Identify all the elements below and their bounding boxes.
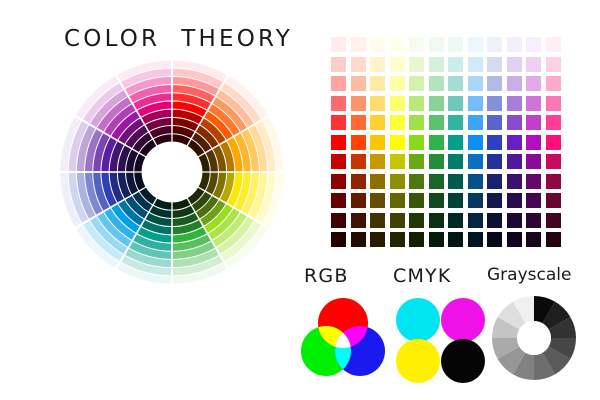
palette-swatch-teal-tint-r3 — [448, 76, 463, 91]
cmyk-circles-figure — [392, 293, 488, 385]
palette-swatch-gold-pure-r6 — [370, 135, 385, 150]
wheel-hub — [142, 142, 202, 202]
palette-swatch-violet-pure-r6 — [507, 135, 522, 150]
palette-swatch-azure-shade-r7 — [468, 154, 483, 169]
palette-swatch-teal-shade-r10 — [448, 213, 463, 228]
rgb-venn — [296, 293, 392, 385]
black-circle — [441, 339, 485, 383]
palette-swatch-blue-tint-r4 — [487, 96, 502, 111]
palette-swatch-violet-shade-r8 — [507, 174, 522, 189]
palette-swatch-red-tint-r2 — [331, 57, 346, 72]
palette-swatch-blue-tint-r3 — [487, 76, 502, 91]
palette-swatch-yellow-green-shade-r10 — [409, 213, 424, 228]
palette-swatch-magenta-shade-r9 — [526, 193, 541, 208]
palette-swatch-green-tint-r5 — [429, 115, 444, 130]
palette-swatch-red-shade-r11 — [331, 232, 346, 247]
palette-swatch-yellow-green-shade-r7 — [409, 154, 424, 169]
palette-swatch-green-tint-r2 — [429, 57, 444, 72]
palette-swatch-orange-tint-r3 — [351, 76, 366, 91]
palette-swatch-yellow-shade-r7 — [390, 154, 405, 169]
palette-swatch-blue-shade-r7 — [487, 154, 502, 169]
palette-swatch-yellow-green-shade-r9 — [409, 193, 424, 208]
palette-swatch-gold-tint-r5 — [370, 115, 385, 130]
palette-swatch-green-tint-r3 — [429, 76, 444, 91]
palette-swatch-magenta-shade-r10 — [526, 213, 541, 228]
palette-swatch-gold-tint-r4 — [370, 96, 385, 111]
palette-swatch-azure-tint-r5 — [468, 115, 483, 130]
palette-swatch-pink-tint-r2 — [546, 57, 561, 72]
palette-swatch-red-shade-r7 — [331, 154, 346, 169]
yellow-circle — [396, 339, 440, 383]
palette-swatch-red-tint-r1 — [331, 37, 346, 52]
palette-swatch-yellow-shade-r11 — [390, 232, 405, 247]
palette-swatch-magenta-tint-r2 — [526, 57, 541, 72]
palette-swatch-yellow-green-tint-r2 — [409, 57, 424, 72]
palette-swatch-gold-shade-r11 — [370, 232, 385, 247]
page-title: COLOR THEORY — [64, 26, 293, 52]
palette-swatch-green-shade-r11 — [429, 232, 444, 247]
palette-swatch-violet-shade-r9 — [507, 193, 522, 208]
palette-swatch-green-shade-r7 — [429, 154, 444, 169]
palette-swatch-blue-tint-r2 — [487, 57, 502, 72]
palette-swatch-orange-shade-r10 — [351, 213, 366, 228]
palette-swatch-gold-shade-r9 — [370, 193, 385, 208]
palette-swatch-magenta-shade-r11 — [526, 232, 541, 247]
palette-swatch-red-tint-r5 — [331, 115, 346, 130]
magenta-circle — [441, 298, 485, 342]
palette-swatch-red-pure-r6 — [331, 135, 346, 150]
palette-swatch-gold-tint-r1 — [370, 37, 385, 52]
palette-swatch-green-tint-r1 — [429, 37, 444, 52]
cmyk-circles — [392, 293, 488, 385]
grayscale-hub — [517, 321, 551, 355]
palette-swatch-pink-tint-r3 — [546, 76, 561, 91]
palette-swatch-yellow-shade-r8 — [390, 174, 405, 189]
palette-swatch-violet-tint-r2 — [507, 57, 522, 72]
palette-swatch-orange-tint-r4 — [351, 96, 366, 111]
palette-swatch-violet-tint-r3 — [507, 76, 522, 91]
palette-swatch-azure-pure-r6 — [468, 135, 483, 150]
palette-swatch-yellow-tint-r1 — [390, 37, 405, 52]
palette-swatch-yellow-pure-r6 — [390, 135, 405, 150]
palette-swatch-gold-tint-r2 — [370, 57, 385, 72]
palette-swatch-red-shade-r10 — [331, 213, 346, 228]
palette-swatch-yellow-green-tint-r5 — [409, 115, 424, 130]
grayscale-wheel-figure — [489, 293, 585, 385]
palette-swatch-violet-tint-r4 — [507, 96, 522, 111]
palette-swatch-blue-shade-r8 — [487, 174, 502, 189]
palette-swatch-pink-tint-r5 — [546, 115, 561, 130]
palette-swatch-pink-tint-r1 — [546, 37, 561, 52]
palette-swatch-gold-shade-r7 — [370, 154, 385, 169]
palette-swatch-azure-tint-r1 — [468, 37, 483, 52]
palette-swatch-yellow-green-pure-r6 — [409, 135, 424, 150]
palette-swatch-azure-shade-r9 — [468, 193, 483, 208]
palette-swatch-green-shade-r8 — [429, 174, 444, 189]
grayscale-label: Grayscale — [487, 265, 571, 285]
palette-swatch-red-shade-r9 — [331, 193, 346, 208]
palette-swatch-red-tint-r4 — [331, 96, 346, 111]
palette-swatch-magenta-tint-r5 — [526, 115, 541, 130]
palette-swatch-pink-tint-r4 — [546, 96, 561, 111]
palette-swatch-violet-tint-r5 — [507, 115, 522, 130]
palette-swatch-pink-pure-r6 — [546, 135, 561, 150]
palette-swatch-teal-shade-r9 — [448, 193, 463, 208]
palette-swatch-yellow-green-tint-r3 — [409, 76, 424, 91]
palette-swatch-violet-shade-r10 — [507, 213, 522, 228]
palette-swatch-violet-tint-r1 — [507, 37, 522, 52]
palette-swatch-teal-shade-r11 — [448, 232, 463, 247]
palette-swatch-yellow-green-tint-r4 — [409, 96, 424, 111]
palette-swatch-yellow-tint-r2 — [390, 57, 405, 72]
palette-swatch-blue-tint-r1 — [487, 37, 502, 52]
palette-swatch-azure-tint-r3 — [468, 76, 483, 91]
grayscale-wheel — [489, 293, 581, 385]
palette-swatch-azure-shade-r11 — [468, 232, 483, 247]
palette-swatch-azure-shade-r10 — [468, 213, 483, 228]
palette-swatch-blue-pure-r6 — [487, 135, 502, 150]
palette-swatch-teal-tint-r5 — [448, 115, 463, 130]
palette-swatch-yellow-green-shade-r8 — [409, 174, 424, 189]
palette-swatch-green-pure-r6 — [429, 135, 444, 150]
palette-swatch-yellow-tint-r3 — [390, 76, 405, 91]
palette-swatch-pink-shade-r11 — [546, 232, 561, 247]
palette-swatch-blue-tint-r5 — [487, 115, 502, 130]
palette-grid — [331, 37, 561, 247]
palette-swatch-orange-shade-r7 — [351, 154, 366, 169]
palette-swatch-orange-tint-r1 — [351, 37, 366, 52]
palette-swatch-gold-tint-r3 — [370, 76, 385, 91]
palette-swatch-azure-tint-r4 — [468, 96, 483, 111]
palette-swatch-teal-tint-r2 — [448, 57, 463, 72]
rgb-venn-figure — [296, 293, 392, 385]
palette-swatch-yellow-green-shade-r11 — [409, 232, 424, 247]
palette-swatch-yellow-tint-r4 — [390, 96, 405, 111]
rgb-label: RGB — [304, 265, 349, 287]
palette-swatch-red-shade-r8 — [331, 174, 346, 189]
palette-swatch-magenta-shade-r7 — [526, 154, 541, 169]
palette-swatch-orange-shade-r9 — [351, 193, 366, 208]
palette-swatch-yellow-shade-r10 — [390, 213, 405, 228]
cyan-circle — [396, 298, 440, 342]
palette-swatch-violet-shade-r11 — [507, 232, 522, 247]
palette-swatch-orange-tint-r2 — [351, 57, 366, 72]
palette-swatch-orange-shade-r8 — [351, 174, 366, 189]
palette-swatch-magenta-tint-r4 — [526, 96, 541, 111]
palette-swatch-teal-pure-r6 — [448, 135, 463, 150]
palette-swatch-azure-shade-r8 — [468, 174, 483, 189]
cmyk-label: CMYK — [393, 265, 452, 287]
palette-swatch-orange-pure-r6 — [351, 135, 366, 150]
palette-swatch-blue-shade-r9 — [487, 193, 502, 208]
color-wheel-figure — [58, 58, 286, 286]
palette-swatch-teal-shade-r8 — [448, 174, 463, 189]
palette-swatch-pink-shade-r8 — [546, 174, 561, 189]
palette-swatch-teal-shade-r7 — [448, 154, 463, 169]
palette-swatch-blue-shade-r11 — [487, 232, 502, 247]
palette-swatch-green-tint-r4 — [429, 96, 444, 111]
palette-swatch-violet-shade-r7 — [507, 154, 522, 169]
palette-swatch-pink-shade-r10 — [546, 213, 561, 228]
palette-swatch-green-shade-r10 — [429, 213, 444, 228]
palette-swatch-magenta-tint-r3 — [526, 76, 541, 91]
palette-swatch-red-tint-r3 — [331, 76, 346, 91]
palette-swatch-yellow-shade-r9 — [390, 193, 405, 208]
palette-swatch-blue-shade-r10 — [487, 213, 502, 228]
palette-swatch-gold-shade-r8 — [370, 174, 385, 189]
palette-swatch-magenta-shade-r8 — [526, 174, 541, 189]
palette-swatch-azure-tint-r2 — [468, 57, 483, 72]
palette-swatch-green-shade-r9 — [429, 193, 444, 208]
palette-swatch-teal-tint-r1 — [448, 37, 463, 52]
palette-swatch-yellow-green-tint-r1 — [409, 37, 424, 52]
palette-swatch-orange-shade-r11 — [351, 232, 366, 247]
color-wheel — [58, 58, 286, 286]
palette-swatch-magenta-tint-r1 — [526, 37, 541, 52]
palette-swatch-yellow-tint-r5 — [390, 115, 405, 130]
palette-swatch-pink-shade-r9 — [546, 193, 561, 208]
palette-swatch-gold-shade-r10 — [370, 213, 385, 228]
palette-swatch-magenta-pure-r6 — [526, 135, 541, 150]
palette-swatch-teal-tint-r4 — [448, 96, 463, 111]
palette-swatch-orange-tint-r5 — [351, 115, 366, 130]
palette-swatch-pink-shade-r7 — [546, 154, 561, 169]
